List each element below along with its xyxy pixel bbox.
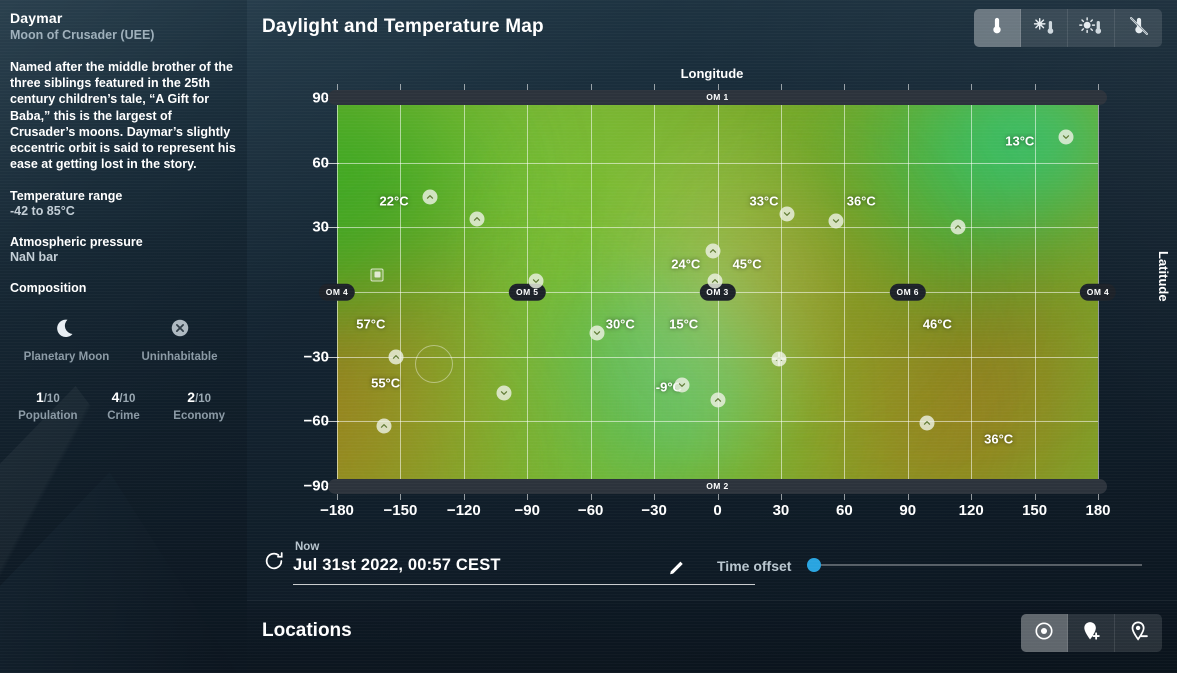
stat-label: Population — [10, 410, 86, 422]
selection-ring — [415, 345, 453, 383]
y-axis-tick-mark — [325, 227, 339, 228]
crosshair-icon[interactable] — [772, 352, 786, 366]
composition-item-moon: Planetary Moon — [10, 313, 123, 363]
datetime-field[interactable]: Jul 31st 2022, 00:57 CEST — [293, 556, 501, 575]
stats-row: 1/10 Population 4/10 Crime 2/10 Economy — [10, 389, 237, 422]
temperature-range-value: -42 to 85°C — [10, 204, 237, 218]
page-title: Daylight and Temperature Map — [262, 16, 544, 38]
chevron-up-icon[interactable] — [706, 244, 721, 259]
chevron-down-icon[interactable] — [1059, 129, 1074, 144]
chevron-up-icon[interactable] — [469, 211, 484, 226]
temperature-label: 15°C — [669, 317, 698, 332]
om-label-south: OM 2 — [328, 481, 1107, 491]
x-axis-tick-label: 60 — [836, 502, 853, 519]
pressure-label: Atmospheric pressure — [10, 235, 237, 249]
chevron-down-icon[interactable] — [528, 274, 543, 289]
orbital-marker[interactable]: OM 4 — [319, 284, 355, 301]
chevron-down-icon[interactable] — [780, 207, 795, 222]
stat-label: Economy — [161, 410, 237, 422]
stat-label: Crime — [86, 410, 162, 422]
square-marker-icon[interactable] — [371, 268, 384, 281]
chevron-up-icon[interactable] — [708, 274, 723, 289]
composition-item-label: Uninhabitable — [123, 351, 236, 363]
tool-hide-temperature-button[interactable] — [1115, 9, 1162, 47]
location-remove-icon — [1128, 620, 1150, 647]
om-label-north: OM 1 — [328, 92, 1107, 102]
plot-area[interactable]: −180−150−120−90−60−300306090120150180906… — [337, 98, 1098, 486]
x-axis-tick-label: −30 — [641, 502, 666, 519]
pressure-value: NaN bar — [10, 250, 237, 264]
sidebar: Daymar Moon of Crusader (UEE) Named afte… — [0, 0, 247, 673]
chevron-up-icon[interactable] — [389, 349, 404, 364]
x-axis-tick-label: 30 — [773, 502, 790, 519]
temperature-label: 13°C — [1005, 134, 1034, 149]
time-offset-label: Time offset — [717, 558, 791, 574]
main-panel: Daylight and Temperature Map — [247, 0, 1177, 673]
chevron-up-icon[interactable] — [951, 220, 966, 235]
orbital-marker[interactable]: OM 4 — [1080, 284, 1116, 301]
target-location-icon — [1033, 620, 1055, 647]
moon-icon — [10, 313, 123, 343]
chevron-up-icon[interactable] — [919, 416, 934, 431]
composition-item-uninhabitable: Uninhabitable — [123, 313, 236, 363]
stat-population: 1/10 Population — [10, 389, 86, 422]
pressure-block: Atmospheric pressure NaN bar — [10, 235, 237, 264]
remove-location-button[interactable] — [1115, 614, 1162, 652]
south-pole-cap: OM 2 — [328, 479, 1107, 494]
y-axis-title: Latitude — [1156, 251, 1171, 302]
chevron-up-icon[interactable] — [710, 392, 725, 407]
gridline-horizontal — [337, 421, 1098, 422]
stat-denominator: /10 — [44, 393, 60, 405]
temperature-label: 33°C — [749, 194, 778, 209]
locations-section: Locations — [247, 600, 1177, 673]
app-root: Daymar Moon of Crusader (UEE) Named afte… — [0, 0, 1177, 673]
x-axis-tick-label: −60 — [578, 502, 603, 519]
chevron-down-icon[interactable] — [590, 325, 605, 340]
locations-title: Locations — [262, 620, 352, 642]
y-axis-tick-mark — [325, 421, 339, 422]
chevron-down-icon[interactable] — [828, 213, 843, 228]
time-offset-slider-handle[interactable] — [807, 558, 821, 572]
stat-economy: 2/10 Economy — [161, 389, 237, 422]
composition-label: Composition — [10, 281, 237, 295]
map-toolbar — [974, 9, 1162, 47]
thermometer-cold-icon — [1032, 15, 1056, 42]
x-axis-tick-label: 180 — [1085, 502, 1110, 519]
x-axis-tick-label: 90 — [899, 502, 916, 519]
temperature-range-label: Temperature range — [10, 189, 237, 203]
thermometer-icon — [986, 15, 1008, 42]
temperature-label: 55°C — [371, 375, 400, 390]
stat-denominator: /10 — [195, 393, 211, 405]
composition-item-label: Planetary Moon — [10, 351, 123, 363]
temperature-label: 36°C — [984, 431, 1013, 446]
temperature-label: 36°C — [847, 194, 876, 209]
temperature-label: 22°C — [380, 194, 409, 209]
tool-coldest-button[interactable] — [1021, 9, 1068, 47]
stat-value: 2 — [187, 389, 195, 405]
chevron-down-icon[interactable] — [674, 377, 689, 392]
planet-name: Daymar — [10, 10, 237, 26]
time-offset-slider-track[interactable] — [812, 564, 1142, 566]
temperature-label: 24°C — [671, 256, 700, 271]
planet-subtitle: Moon of Crusader (UEE) — [10, 28, 237, 42]
x-axis-tick-label: −120 — [447, 502, 481, 519]
chevron-up-icon[interactable] — [423, 190, 438, 205]
x-axis-tick-label: 120 — [959, 502, 984, 519]
center-on-location-button[interactable] — [1021, 614, 1068, 652]
x-axis-tick-label: 150 — [1022, 502, 1047, 519]
edit-pencil-icon[interactable] — [667, 557, 687, 582]
x-axis-tick-label: −180 — [320, 502, 354, 519]
gridline-horizontal — [337, 227, 1098, 228]
location-add-icon — [1080, 620, 1102, 647]
chevron-down-icon[interactable] — [496, 386, 511, 401]
thermometer-off-icon — [1127, 15, 1151, 42]
x-axis-tick-label: −150 — [384, 502, 418, 519]
y-axis-tick-mark — [325, 357, 339, 358]
daylight-temperature-map: Longitude Latitude −180−150−120−90−60−30… — [247, 56, 1177, 526]
composition-block: Composition — [10, 281, 237, 295]
locations-toolbar — [1021, 614, 1162, 652]
x-axis-tick-label: −90 — [515, 502, 540, 519]
datetime-underline — [293, 584, 755, 585]
x-axis-title: Longitude — [247, 66, 1177, 81]
stat-crime: 4/10 Crime — [86, 389, 162, 422]
panel-header: Daylight and Temperature Map — [247, 0, 1177, 56]
uninhabitable-icon — [123, 313, 236, 343]
orbital-marker[interactable]: OM 6 — [890, 284, 926, 301]
x-axis-tick-label: 0 — [713, 502, 721, 519]
gridline-horizontal — [337, 163, 1098, 164]
stat-value: 1 — [36, 389, 44, 405]
temperature-label: 46°C — [923, 317, 952, 332]
tool-temperature-button[interactable] — [974, 9, 1021, 47]
reset-time-icon[interactable] — [263, 550, 285, 577]
temperature-range-block: Temperature range -42 to 85°C — [10, 189, 237, 218]
now-label: Now — [295, 541, 319, 553]
temperature-label: 30°C — [606, 317, 635, 332]
temperature-label: 45°C — [733, 256, 762, 271]
tool-hottest-button[interactable] — [1068, 9, 1115, 47]
chevron-up-icon[interactable] — [376, 418, 391, 433]
temperature-label: 57°C — [356, 317, 385, 332]
time-controls: Now Jul 31st 2022, 00:57 CEST Time offse… — [247, 528, 1177, 598]
planet-description: Named after the middle brother of the th… — [10, 59, 237, 172]
y-axis-tick-mark — [325, 163, 339, 164]
stat-denominator: /10 — [119, 393, 135, 405]
thermometer-hot-icon — [1079, 15, 1103, 42]
add-location-button[interactable] — [1068, 614, 1115, 652]
north-pole-cap: OM 1 — [328, 90, 1107, 105]
composition-row: Planetary Moon Uninhabitable — [10, 313, 237, 363]
